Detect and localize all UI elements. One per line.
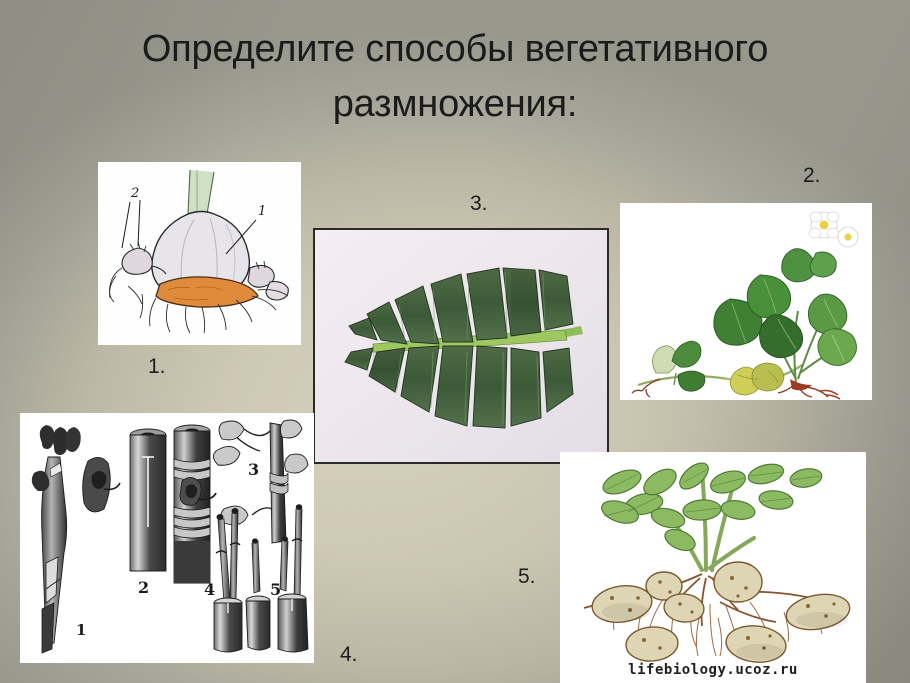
svg-text:1: 1 (76, 621, 86, 639)
label-4: 4. (340, 643, 358, 667)
label-5: 5. (518, 565, 536, 589)
page-title: Определите способы вегетативного размнож… (55, 22, 855, 132)
image-5-potato[interactable]: lifebiology.ucoz.ru (560, 452, 866, 683)
image-3-leaf-cuttings[interactable] (313, 228, 609, 464)
image-2-strawberry[interactable] (620, 203, 872, 400)
label-1: 1. (148, 355, 166, 379)
slide-canvas: Определите способы вегетативного размнож… (0, 0, 910, 683)
svg-text:3: 3 (248, 460, 259, 479)
svg-text:4: 4 (204, 580, 215, 599)
watermark: lifebiology.ucoz.ru (628, 662, 798, 678)
image-1-bulb[interactable]: 2 1 (98, 162, 301, 345)
svg-text:2: 2 (130, 186, 139, 201)
image-4-grafting[interactable]: 1 2 (20, 413, 314, 663)
label-3: 3. (470, 192, 488, 216)
label-2: 2. (803, 164, 821, 188)
svg-text:5: 5 (270, 580, 281, 599)
svg-text:2: 2 (138, 578, 149, 597)
svg-text:1: 1 (258, 204, 266, 219)
